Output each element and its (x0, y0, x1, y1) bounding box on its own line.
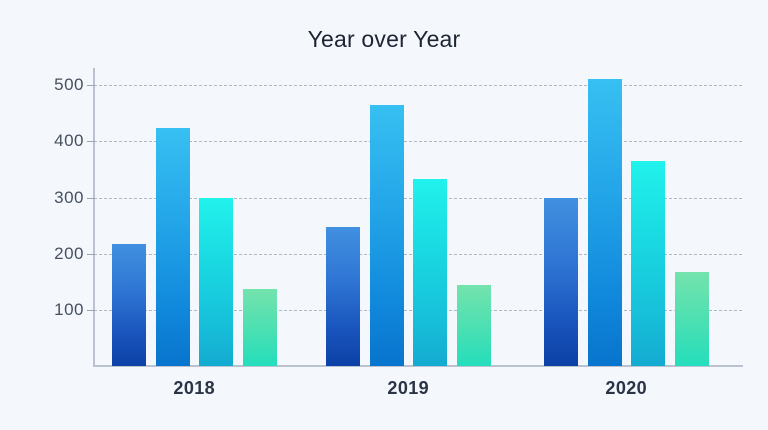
y-axis-tick-label: 300 (28, 188, 84, 208)
plot-area (94, 70, 742, 366)
x-axis-label-2018: 2018 (114, 378, 274, 399)
bar-2019-series-2[interactable] (370, 105, 404, 366)
bar-2020-series-3[interactable] (631, 161, 665, 366)
bar-2018-series-4[interactable] (243, 289, 277, 366)
bar-2018-series-3[interactable] (199, 198, 233, 367)
bar-2020-series-1[interactable] (544, 198, 578, 367)
y-axis-tick-label: 200 (28, 244, 84, 264)
bar-2020-series-2[interactable] (588, 79, 622, 366)
y-axis-tick (87, 198, 94, 199)
chart-title: Year over Year (0, 26, 768, 53)
chart-container: Year over Year 500400300200100 201820192… (0, 0, 768, 430)
y-axis-tick (87, 254, 94, 255)
y-axis-tick (87, 85, 94, 86)
bar-2019-series-1[interactable] (326, 227, 360, 366)
x-axis-label-2020: 2020 (546, 378, 706, 399)
y-axis-tick-label: 400 (28, 131, 84, 151)
bar-2018-series-2[interactable] (156, 128, 190, 366)
y-axis-tick-label: 100 (28, 300, 84, 320)
bar-2020-series-4[interactable] (675, 272, 709, 366)
bar-2019-series-4[interactable] (457, 285, 491, 366)
bar-2019-series-3[interactable] (413, 179, 447, 366)
gridline (94, 85, 742, 86)
y-axis-tick (87, 141, 94, 142)
y-axis-tick (87, 310, 94, 311)
y-axis-tick-labels: 500400300200100 (20, 0, 84, 430)
y-axis-tick-label: 500 (28, 75, 84, 95)
x-axis-label-2019: 2019 (328, 378, 488, 399)
gridline (94, 141, 742, 142)
bar-2018-series-1[interactable] (112, 244, 146, 366)
